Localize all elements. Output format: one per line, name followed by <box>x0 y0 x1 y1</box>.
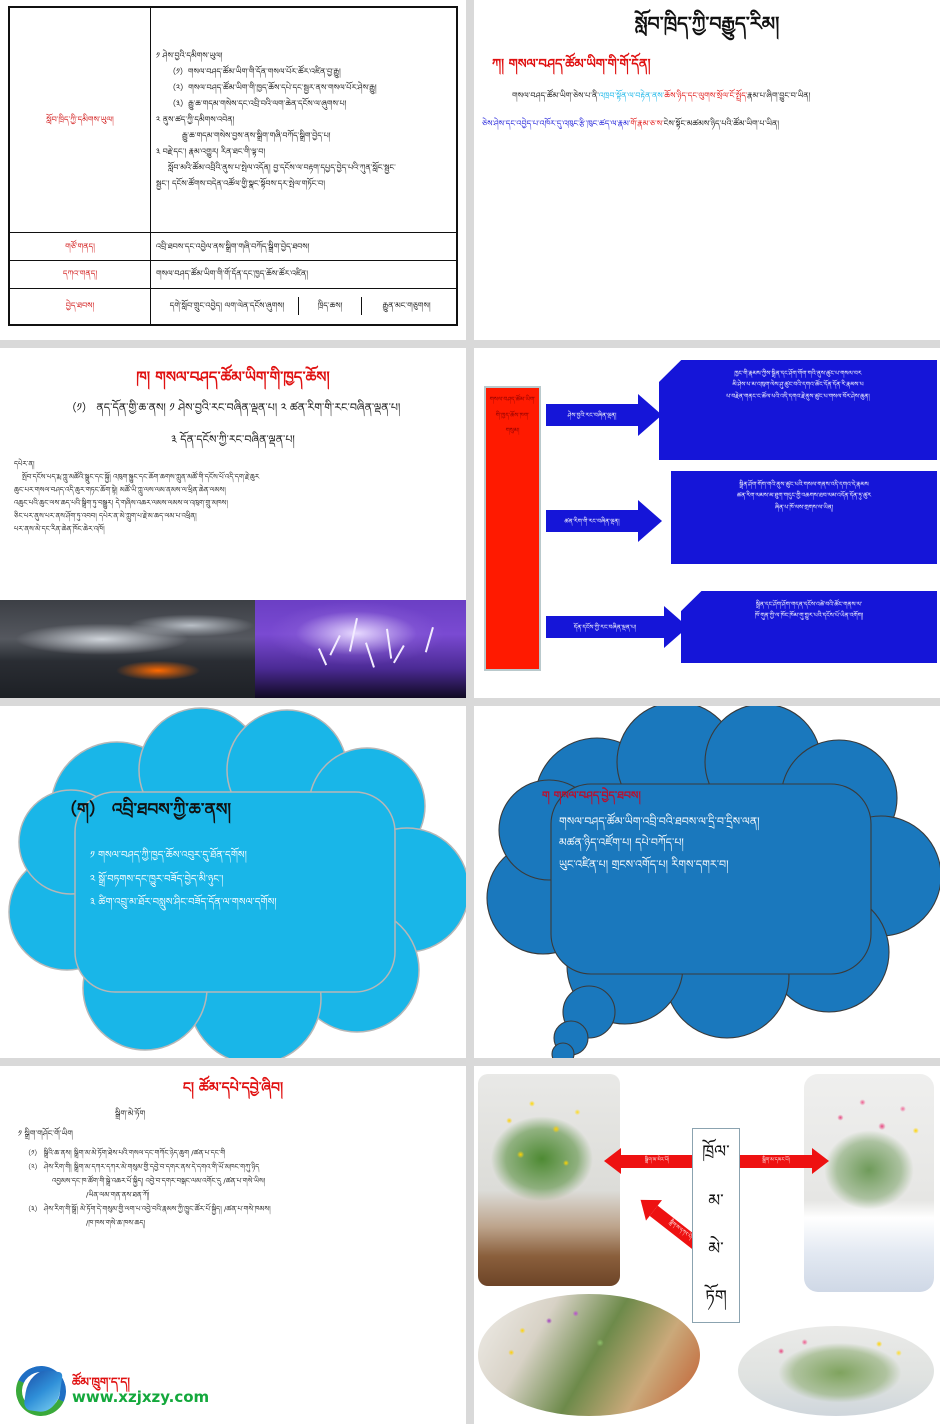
arrow-label: སྒྲིག་མ་སེར་པོ། <box>621 1155 693 1168</box>
table-row: གཙོ་གནད། འབྲི་ཐབས་དང་འབྱེལ་ནས་སྒྲིག་གཞི་… <box>10 233 457 261</box>
slide-title: ང། ཚོམ་དཔེ་དབྱེ་ཞིབ། <box>0 1078 466 1099</box>
photo-storm-clouds-sunset <box>0 600 255 698</box>
characteristics-line-2: ༣ དོན་དངོས་ཀྱི་རང་བཞིན་ལྡན་པ། <box>0 432 466 449</box>
analysis-list: （༡） སྒྲིའི་ཆ་ནས། སྒྲིག་མ་མེ་ཏོག་ཐེས་པའི་… <box>24 1146 454 1230</box>
arrow-characteristic-2: ཚན་རིག་གི་རང་བཞིན་ལྡན། <box>546 500 662 542</box>
list-item: ཡུང་འཛིན་པ། གྲངས་འགོད་པ། རིགས་དགར་བ། <box>559 854 879 875</box>
table-row: སློབ་ཁྲིད་ཀྱི་དམིགས་ཡུལ། ༡ ཤེས་བྱའི་དམིག… <box>10 8 457 233</box>
list-item: འབྱམས་དང་ཁ་ཚོག་གི་སྒྲེ་འཆར་པོ་སྐྱིད། འབྱ… <box>24 1174 454 1188</box>
slide-sample-analysis[interactable]: ང། ཚོམ་དཔེ་དབྱེ་ཞིབ། སྒྲིག་མེ་ཏོག ༡ སྒྲི… <box>0 1066 466 1424</box>
objective-line: ༣ བརྗེ་དང་། རྣམ་འགྱུར། རིན་ཐང་གི་ལྟ་བ། <box>156 146 451 158</box>
text-segment: ཆོས་ཉིད་དང་ལུགས་སྲོལ་ངོ་སྤྲོད་ <box>664 91 747 100</box>
sidebar-red-bar: གསལ་བཤད་ཚོམ་ཡིག་གི་ཁྱད་ཆོས་ཁག་གསུམ། <box>484 386 541 671</box>
table-row: དཀའ་གནད། གསལ་བཤད་ཚོམ་ཡིག་གི་གོ་དོན་དང་ཁྱ… <box>10 261 457 289</box>
logo-text-block: ཚོམ་ཁྲུག་ད་ད། www.xzjxzy.com <box>72 1376 209 1406</box>
list-item: （༢） ཤེས་རིག་གི། སྒྲིག་མ་དཀར་དཀར་མེ་གསུམ་… <box>24 1160 454 1174</box>
content-box-2: སྒྲིན་ཤོག་གོག་གའི་ནུས་ཚུང་པའི་གསལ་གནས་འད… <box>671 471 937 564</box>
poem-line: སྤོབ་དངོས་པད་རྨ་ཀླུ་མཚོའི་སྒྲུང་དང་སྐྱོ།… <box>14 471 456 484</box>
text-segment: ངེས་སྟོང་མཚམས་ཉིད་པའི་ཚོམ་ཡིག་པ་ཡིན། <box>664 119 779 128</box>
list-item: མཚན་ཉིད་འཛོག་པ། དཔེ་བཀོད་པ། <box>559 832 879 853</box>
lesson-plan-table: སློབ་ཁྲིད་ཀྱི་དམིགས་ཡུལ། ༡ ཤེས་བྱའི་དམིག… <box>9 7 457 325</box>
methods-cell-2: ཁྲིད་ཆས། <box>299 297 362 315</box>
list-item: /ཁ་ཁས་གསེ་ཆ་ཁས་ཆད། <box>24 1216 454 1230</box>
text-segment: གསལ་བཤད་ཚོམ་ཡིག་ཅེས་པ་ནི་ <box>512 91 599 100</box>
row-body-objectives: ༡ ཤེས་བྱའི་དམིགས་ཡུལ། （༡）གསལ་བཤད་ཚོམ་ཡིག… <box>151 8 457 233</box>
section-heading-ka: ཀ། གསལ་བཤད་ཚོམ་ཡིག་གི་གོ་དོན། <box>492 55 650 75</box>
box-line: མི་ཤེས་པ་མ་འཁུག་ལེས་ཤུ་ཚུང་བའི་དགའ་ཚོང་ད… <box>669 379 927 390</box>
center-label-char: མེ་ <box>708 1237 724 1263</box>
table-row: བྱེད་ཐབས། དགེ་སློབ་གྲུང་འབྱེད། ལག་ལེན་དང… <box>10 288 457 324</box>
center-label-box: ཁྲོལ་ མ་ མེ་ ཏོག <box>692 1128 740 1323</box>
arrow-label: ཤེས་བྱའི་རང་བཞིན་ལྡན། <box>546 404 638 426</box>
definition-paragraph-1: གསལ་བཤད་ཚོམ་ཡིག་ཅེས་པ་ནི་འཁྲབ་སྟོན་ལ་བརྟ… <box>512 90 810 102</box>
poem-line: དཔེར་ན། <box>14 458 456 471</box>
objective-line: སྦྱང་། དངོས་ཚོགས་བདེན་འཚོལ་གྱི་སྣང་སྟོབས… <box>156 178 451 190</box>
numbered-heading-1: ༡ སྒྲིག་གཤོང་གོ་ཡིག <box>18 1128 73 1140</box>
photo-lightning-storm <box>255 600 466 698</box>
row-body-key-points: འབྲི་ཐབས་དང་འབྱེལ་ནས་སྒྲིག་གཞི་བཀོད་སྒྲི… <box>151 233 457 261</box>
slide-teaching-process[interactable]: སློབ་ཁྲིད་ཀྱི་བརྒྱུད་རིམ། ཀ། གསལ་བཤད་ཚོམ… <box>474 0 940 340</box>
cloud-item-list: ༡ གསལ་བཤད་ཀྱི་ཁྱད་ཆོས་འབུར་དུ་ཐོན་དགོས། … <box>90 844 390 915</box>
box-line: ཞིན་པ་ཁོ་ལས་གྲགས་ལ་ཡིན། <box>681 502 927 513</box>
arrow-characteristic-1: ཤེས་བྱའི་རང་བཞིན་ལྡན། <box>546 394 662 436</box>
row-body-methods: དགེ་སློབ་གྲུང་འབྱེད། ལག་ལེན་དངོས་ཞུགས། ཁ… <box>151 288 457 324</box>
objective-line: ༢ ནུས་ཚད་ཀྱི་དམིགས་འབེན། <box>156 114 451 126</box>
photo-yellow-flowers-pot <box>478 1074 620 1286</box>
center-label-char: ཁྲོལ་ <box>702 1140 729 1166</box>
slide-flower-photos[interactable]: སྒྲིག་མ་སེར་པོ། སྒྲིག་མ་དམར་པོ། སྒྲིག་མ་… <box>474 1066 940 1424</box>
arrow-label: ཚན་རིག་གི་རང་བཞིན་ལྡན། <box>546 510 638 532</box>
row-label-objectives: སློབ་ཁྲིད་ཀྱི་དམིགས་ཡུལ། <box>10 8 151 233</box>
list-item: /ཡིན་ལམ་གན་ནས་ཐན་ཀོ། <box>24 1188 454 1202</box>
photo-strip <box>0 600 466 698</box>
cloud-heading: （ག） འབྲི་ཐབས་ཀྱི་ཆ་ནས། <box>60 798 310 824</box>
arrow-label-text: སྒྲིག་མ་སེར་པོ། <box>645 1157 669 1165</box>
arrow-head-icon <box>638 394 662 436</box>
row-label-key-points: གཙོ་གནད། <box>10 233 151 261</box>
photo-mixed-flowers-indoor <box>478 1294 700 1416</box>
box-line: ཁྱང་གི་རྣམས་ཀྱིས་སྒྲིན་དང་ཤོག་གོག་གའི་ནུ… <box>669 368 927 379</box>
row-label-methods: བྱེད་ཐབས། <box>10 288 151 324</box>
arrow-label-text: སྒྲིག་མ་དཀར་པོ། <box>667 1219 693 1242</box>
methods-cell-3: རྒྱུན་མང་གཅུགས། <box>362 297 451 315</box>
arrow-label: དོན་དངོས་ཀྱི་རང་བཞིན་ལྡན་པ། <box>546 616 664 638</box>
row-body-difficult-points: གསལ་བཤད་ཚོམ་ཡིག་གི་གོ་དོན་དང་ཁྱད་ཆོས་ཚོར… <box>151 261 457 289</box>
slide-cloud-structure[interactable]: ག གསལ་བཤད་བྱེད་ཐབས། གསལ་བཤད་ཚོམ་ཡིག་འབྲི… <box>474 706 940 1058</box>
poem-line: ཆུང་པར་གསལ་བཤད་འདི་ཆུར་གཏང་ཆོག་སྟེ། མཚོ་… <box>14 484 456 497</box>
center-label-char: ཏོག <box>705 1285 727 1311</box>
box-line: པ་བརྗེན་གནང་ང་ཚོལ་པའི་འདི་དགའ་རྗེ་ནུས་ཚུ… <box>669 391 927 402</box>
poem-line: པར་ནས་མེ་དང་རིན་ཆེན་ཁོང་ཆེར་འཁོ། <box>14 523 456 536</box>
text-segment: ཅེས་ཤེས་དང་འབྱེད་པ་འཁོར་དུ་འཁུང་རྩི་ཁུང་… <box>482 119 630 128</box>
list-item: ༡ གསལ་བཤད་ཀྱི་ཁྱད་ཆོས་འབུར་དུ་ཐོན་དགོས། <box>90 844 390 868</box>
slide-cloud-homework[interactable]: （ག） འབྲི་ཐབས་ཀྱི་ཆ་ནས། ༡ གསལ་བཤད་ཀྱི་ཁྱད… <box>0 706 466 1058</box>
objective-line: （༡）གསལ་བཤད་ཚོམ་ཡིག་གི་དོན་གསལ་པོར་ཚོར་འཛ… <box>156 66 451 78</box>
content-box-1: ཁྱང་གི་རྣམས་ཀྱིས་སྒྲིན་དང་ཤོག་གོག་གའི་ནུ… <box>659 360 937 460</box>
lesson-plan-table-wrapper: སློབ་ཁྲིད་ཀྱི་དམིགས་ཡུལ། ༡ ཤེས་བྱའི་དམིག… <box>8 6 458 326</box>
photo-pink-flowers-pot <box>804 1074 934 1292</box>
list-item: གསལ་བཤད་ཚོམ་ཡིག་འབྲི་བའི་ཐབས་ལ་དྲི་བ་དྲི… <box>559 811 879 832</box>
objective-line: （༢）གསལ་བཤད་ཚོམ་ཡིག་གི་ཁྱད་ཆོས་དཔེ་དང་སྦྱ… <box>156 82 451 94</box>
list-item: （༡） སྒྲིའི་ཆ་ནས། སྒྲིག་མ་མེ་ཏོག་ཐེས་པའི་… <box>24 1146 454 1160</box>
objective-line: ༡ ཤེས་བྱའི་དམིགས་ཡུལ། <box>156 50 451 62</box>
objective-line: （༣）རྒྱུ་ཆ་གདམ་གསེས་དང་འབྲི་བའི་ལག་ཆེན་དང… <box>156 98 451 110</box>
arrow-characteristic-3: དོན་དངོས་ཀྱི་རང་བཞིན་ལྡན་པ། <box>546 606 688 648</box>
objective-line: སློབ་མའི་ཚོམ་འབྲིའི་ནུས་པ་སྤེལ་འདོན། བྱ་… <box>156 162 451 174</box>
row-label-difficult-points: དཀའ་གནད། <box>10 261 151 289</box>
list-item: （༣） ཤེས་རིག་གི་སྒྲོ། མེ་ཏོག་དེ་གསུམ་གྱི་… <box>24 1202 454 1216</box>
cloud-item-list: གསལ་བཤད་ཚོམ་ཡིག་འབྲི་བའི་ཐབས་ལ་དྲི་བ་དྲི… <box>559 811 879 875</box>
arrow-label: སྒྲིག་མ་དམར་པོ། <box>740 1155 812 1168</box>
methods-cell-1: དགེ་སློབ་གྲུང་འབྱེད། ལག་ལེན་དངོས་ཞུགས། <box>156 297 299 315</box>
example-poem: དཔེར་ན། སྤོབ་དངོས་པད་རྨ་ཀླུ་མཚོའི་སྒྲུང་… <box>14 458 456 536</box>
slide-nature-phenomena[interactable]: ཁ། གསལ་བཤད་ཚོམ་ཡིག་གི་ཁྱད་ཆོས། （༡） ནད་དོ… <box>0 348 466 698</box>
arrow-head-icon <box>812 1148 829 1174</box>
arrow-head-icon <box>638 500 662 542</box>
text-segment: གོ་རྣམ་ཅ་ས་ <box>630 119 663 128</box>
poem-line: འཆུང་པའི་ཆུང་ལས་ཆད་པའི་སྒྲིག་ཏུ་བསྒྱུར། … <box>14 497 456 510</box>
box-line: སྒྲིན་ཤོག་གོག་གའི་ནུས་ཚུང་པའི་གསལ་གནས་འད… <box>681 479 927 490</box>
photo-pink-yellow-flowers-outdoor <box>738 1326 934 1416</box>
thought-cloud-shape-blue <box>474 706 940 1058</box>
sample-subtitle: སྒྲིག་མེ་ཏོག <box>115 1108 145 1120</box>
content-box-3: སྒྲིན་དང་ཤོག་ཤོག་གདན་དངོས་འཚེ་བའི་ཚོང་གན… <box>681 591 937 663</box>
box-line: ཁོ་གུན་ཀྱི་ལ་ཁོང་ཁོམ་གུ་གྱུར་པའི་དངོས་པོ… <box>691 610 927 621</box>
slide-lesson-plan-table[interactable]: སློབ་ཁྲིད་ཀྱི་དམིགས་ཡུལ། ༡ ཤེས་བྱའི་དམིག… <box>0 0 466 340</box>
characteristics-line-1: （༡） ནད་དོན་གྱི་ཆ་ནས། ༡ ཤེས་བྱའི་རང་བཞིན་… <box>0 400 466 417</box>
text-segment: འཁྲབ་སྟོན་ལ་བརྟེན་ནས་ <box>599 91 665 100</box>
definition-paragraph-2: ཅེས་ཤེས་དང་འབྱེད་པ་འཁོར་དུ་འཁུང་རྩི་ཁུང་… <box>482 118 779 130</box>
cloud-heading: ག གསལ་བཤད་བྱེད་ཐབས། <box>542 788 802 805</box>
list-item: ༢ སྒྲོ་བཏགས་དང་ཁྱུར་བཟོད་བྱེད་མི་ཉུང་། <box>90 868 390 892</box>
poem-line: ཅིང་པར་ནུས་པར་ནས་ཤོག་ཏུ་འབབ། དཔེར་ན་མེ་ཀ… <box>14 510 456 523</box>
arrow-right-to-pink: སྒྲིག་མ་དམར་པོ། <box>740 1148 829 1174</box>
slide-title: སློབ་ཁྲིད་ཀྱི་བརྒྱུད་རིམ། <box>474 10 940 39</box>
center-label-char: མ་ <box>708 1189 724 1215</box>
slide-three-characteristics[interactable]: གསལ་བཤད་ཚོམ་ཡིག་གི་ཁྱད་ཆོས་ཁག་གསུམ། ཤེས་… <box>474 348 940 698</box>
arrow-left-to-yellow: སྒྲིག་མ་སེར་པོ། <box>604 1148 693 1174</box>
box-line: ཚན་རིག་ལམས་མ་ཐུག་གདུང་གྱི་འཆགས་ཐབ་ལམ་འདོ… <box>681 490 927 501</box>
arrow-label-text: སྒྲིག་མ་དམར་པོ། <box>762 1157 789 1165</box>
slide-deck-grid: སློབ་ཁྲིད་ཀྱི་དམིགས་ཡུལ། ༡ ཤེས་བྱའི་དམིག… <box>0 0 940 1412</box>
text-segment: རྣམ་པ་ཞིག་བྱུང་བ་ཡིན། <box>747 91 810 100</box>
arrow-head-icon <box>604 1148 621 1174</box>
slide-title: ཁ། གསལ་བཤད་ཚོམ་ཡིག་གི་ཁྱད་ཆོས། <box>0 366 466 389</box>
objective-line: རྒྱུ་ཆ་གདམ་གསེས་བྱས་ནས་སྒྲིག་གཞི་བཀོད་སྒ… <box>156 130 451 142</box>
box-line: སྒྲིན་དང་ཤོག་ཤོག་གདན་དངོས་འཚེ་བའི་ཚོང་གན… <box>691 599 927 610</box>
logo-website-url: www.xzjxzy.com <box>72 1389 209 1406</box>
list-item: ༣ ཚིག་འབྲུ་མ་ཐོར་བསླུས་ཤིང་བཟོད་དོན་ལ་གས… <box>90 891 390 915</box>
site-logo[interactable]: ཚོམ་ཁྲུག་ད་ད། www.xzjxzy.com <box>14 1364 209 1418</box>
logo-swoosh-icon <box>14 1364 68 1418</box>
